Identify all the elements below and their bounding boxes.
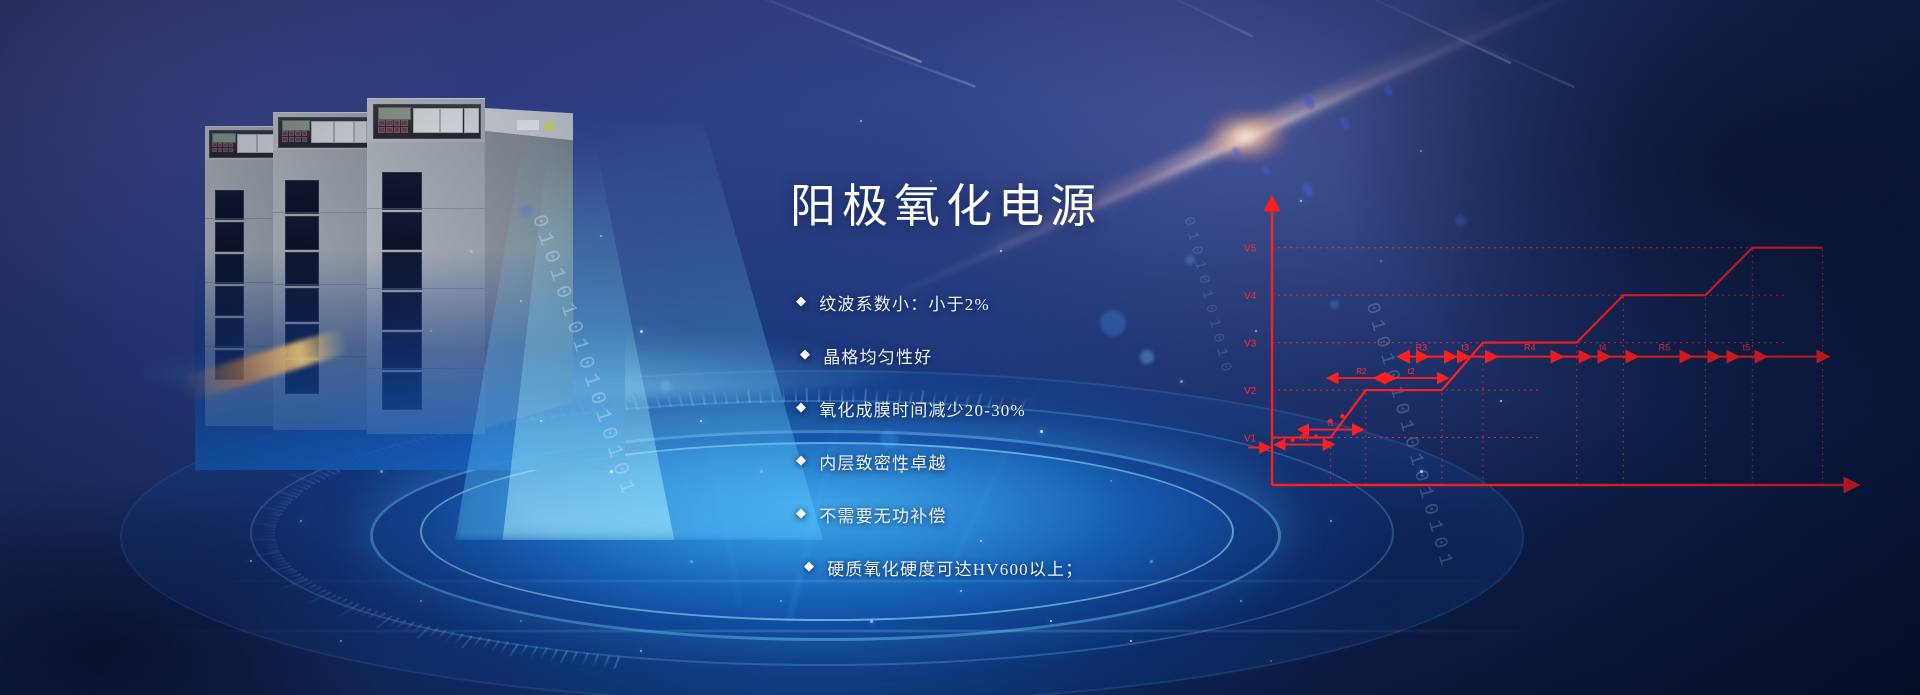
page-title: 阳极氧化电源 bbox=[790, 170, 1102, 236]
keypad-key[interactable] bbox=[282, 137, 288, 142]
bokeh-dot bbox=[1140, 350, 1154, 364]
chart-interval-label: t4 bbox=[1599, 343, 1607, 353]
particle bbox=[340, 640, 342, 642]
particle bbox=[1240, 600, 1242, 602]
cabinet-seam bbox=[273, 212, 373, 213]
bokeh-dot bbox=[520, 205, 532, 217]
chart-y-tick-label: V2 bbox=[1244, 386, 1257, 397]
keypad-key[interactable] bbox=[386, 127, 393, 133]
lens-flare-core bbox=[1203, 109, 1289, 163]
chart-y-tick-label: V3 bbox=[1244, 339, 1257, 350]
particle bbox=[250, 560, 252, 562]
keypad-key[interactable] bbox=[295, 137, 301, 142]
cabinet-breaker[interactable] bbox=[464, 108, 479, 133]
chart-interval-label: R3 bbox=[1416, 343, 1428, 353]
list-item-label: 氧化成膜时间减少20-30% bbox=[819, 396, 1026, 421]
cabinet-label-card bbox=[237, 134, 257, 153]
particle bbox=[640, 330, 643, 333]
keypad-key[interactable] bbox=[282, 131, 288, 136]
cabinet-vent bbox=[285, 180, 319, 214]
list-item: ◆ 晶格均匀性好 bbox=[800, 343, 1266, 368]
cabinet-seam bbox=[367, 288, 485, 289]
particle bbox=[640, 650, 642, 652]
cabinet-seam bbox=[367, 208, 485, 209]
cabinet-label-card bbox=[311, 121, 334, 143]
particle bbox=[930, 180, 932, 182]
particle bbox=[1270, 660, 1272, 662]
keypad-key[interactable] bbox=[295, 131, 301, 136]
particle bbox=[420, 600, 422, 602]
power-cabinet-right bbox=[367, 98, 485, 434]
cabinet-vent bbox=[285, 216, 319, 250]
chart-interval-label: R5 bbox=[1659, 343, 1671, 353]
particle bbox=[1420, 470, 1423, 473]
particle bbox=[1330, 520, 1332, 522]
keypad-key[interactable] bbox=[386, 120, 393, 126]
diamond-bullet-icon: ◆ bbox=[804, 555, 815, 576]
particle bbox=[860, 120, 862, 122]
particle bbox=[700, 420, 702, 422]
lens-flare bbox=[1245, 135, 1249, 139]
chart-y-tick-label: V5 bbox=[1244, 244, 1257, 255]
keypad-key[interactable] bbox=[218, 143, 223, 147]
particle bbox=[960, 590, 962, 592]
meteor-streak bbox=[834, 34, 976, 87]
keypad-key[interactable] bbox=[394, 120, 401, 126]
cabinet-display bbox=[378, 107, 411, 120]
keypad-key[interactable] bbox=[302, 131, 308, 136]
chart-data-line bbox=[1272, 248, 1823, 438]
particle bbox=[1110, 480, 1112, 482]
cabinet-vent bbox=[382, 292, 422, 330]
particle bbox=[870, 620, 873, 623]
bokeh-dot bbox=[1330, 300, 1339, 309]
cabinet-vent bbox=[382, 372, 422, 410]
cabinet-vent bbox=[285, 252, 319, 286]
cabinet-vent bbox=[285, 288, 319, 322]
chart-interval-label: t2 bbox=[1408, 367, 1415, 376]
chart-vertical-gridlines bbox=[1331, 248, 1823, 485]
voltage-staircase-chart: V1V2V3V4V5 R3t3R4t4R5t5 R1t1R2t2 bbox=[1240, 185, 1880, 505]
diamond-bullet-icon: ◆ bbox=[796, 502, 807, 523]
particle bbox=[540, 420, 542, 422]
keypad-key[interactable] bbox=[401, 127, 408, 133]
chart-point bbox=[1314, 434, 1318, 438]
keypad-key[interactable] bbox=[229, 148, 234, 152]
particle bbox=[610, 470, 613, 473]
cabinet-vent bbox=[215, 286, 244, 316]
keypad-key[interactable] bbox=[401, 120, 408, 126]
bokeh-dot bbox=[1185, 255, 1195, 265]
list-item: ◆ 不需要无功补偿 bbox=[796, 502, 1266, 527]
cabinet-vent bbox=[215, 318, 244, 348]
chart-point bbox=[1328, 419, 1332, 423]
keypad-key[interactable] bbox=[302, 137, 308, 142]
cabinet-vent bbox=[215, 254, 244, 284]
list-item: ◆ 纹波系数小：小于2% bbox=[796, 290, 1266, 315]
cabinet-vent bbox=[382, 212, 422, 250]
particle bbox=[520, 300, 522, 302]
podium-tick bbox=[539, 648, 548, 661]
cabinet-keypad bbox=[282, 131, 307, 142]
particle bbox=[1420, 150, 1422, 152]
bokeh-dot bbox=[1455, 215, 1466, 226]
list-item-label: 纹波系数小：小于2% bbox=[819, 290, 990, 315]
chart-interval-label: R4 bbox=[1524, 343, 1536, 353]
cabinet-vent bbox=[382, 172, 422, 210]
particle bbox=[1040, 430, 1043, 433]
keypad-key[interactable] bbox=[223, 148, 228, 152]
diamond-bullet-icon: ◆ bbox=[796, 290, 807, 311]
particle bbox=[980, 540, 982, 542]
particle bbox=[600, 235, 602, 237]
podium-tick bbox=[581, 653, 589, 667]
particle bbox=[520, 620, 522, 622]
list-item-label: 不需要无功补偿 bbox=[819, 502, 946, 527]
cabinet-display bbox=[282, 120, 310, 131]
keypad-key[interactable] bbox=[289, 131, 295, 136]
cabinet-label-card bbox=[413, 108, 440, 133]
chart-y-tick-labels: V1V2V3V4V5 bbox=[1244, 244, 1257, 445]
cabinet-vent bbox=[382, 252, 422, 290]
list-item-label: 晶格均匀性好 bbox=[823, 343, 932, 368]
chart-svg: V1V2V3V4V5 R3t3R4t4R5t5 R1t1R2t2 bbox=[1240, 185, 1880, 505]
bokeh-dot bbox=[1100, 310, 1126, 336]
chart-point bbox=[1290, 438, 1294, 442]
keypad-key[interactable] bbox=[378, 120, 385, 126]
chart-point bbox=[1302, 433, 1306, 437]
cabinet-vent bbox=[382, 332, 422, 370]
cabinet-vent bbox=[215, 190, 244, 220]
cabinet-keypad bbox=[378, 120, 408, 133]
keypad-key[interactable] bbox=[223, 143, 228, 147]
cabinet-label-card bbox=[257, 134, 274, 153]
keypad-key[interactable] bbox=[229, 143, 234, 147]
particle bbox=[1130, 640, 1132, 642]
podium-floor-line bbox=[120, 630, 1520, 632]
particle bbox=[1500, 400, 1502, 402]
cabinet-seam bbox=[273, 284, 373, 285]
particle bbox=[780, 600, 782, 602]
chart-interval-label: t5 bbox=[1743, 343, 1751, 353]
chart-interval-label: R2 bbox=[1356, 367, 1367, 376]
cabinet-label-card bbox=[440, 108, 463, 133]
particle bbox=[690, 560, 693, 563]
power-cabinet-middle bbox=[273, 112, 373, 430]
keypad-key[interactable] bbox=[378, 127, 385, 133]
list-item-label: 内层致密性卓越 bbox=[819, 449, 946, 474]
particle bbox=[380, 470, 383, 473]
podium-tick bbox=[592, 654, 600, 668]
bokeh-dot bbox=[660, 380, 672, 392]
chart-y-tick-label: V4 bbox=[1244, 291, 1257, 302]
particle bbox=[1255, 330, 1257, 332]
podium-tick bbox=[570, 652, 578, 665]
chart-lower-interval-bar: R1t1R2t2 bbox=[1248, 367, 1448, 447]
keypad-key[interactable] bbox=[218, 148, 223, 152]
list-item: ◆ 硬质氧化硬度可达HV600以上； bbox=[804, 555, 1266, 580]
particle bbox=[900, 470, 903, 473]
particle bbox=[1150, 560, 1153, 563]
cabinet-seam bbox=[367, 368, 485, 369]
podium-tick bbox=[549, 649, 558, 662]
bokeh-dot bbox=[880, 430, 898, 448]
podium-tick bbox=[602, 655, 609, 669]
list-item: ◆ 内层致密性卓越 bbox=[796, 449, 1266, 474]
particle bbox=[1050, 620, 1052, 622]
particle bbox=[470, 250, 473, 253]
chart-interval-labels: R3t3R4t4R5t5 bbox=[1416, 343, 1751, 353]
particle bbox=[1180, 380, 1183, 383]
diamond-bullet-icon: ◆ bbox=[800, 343, 811, 364]
cabinet-breaker[interactable] bbox=[354, 121, 367, 143]
particle bbox=[430, 330, 432, 332]
keypad-key[interactable] bbox=[289, 137, 295, 142]
chart-interval-label: t3 bbox=[1462, 343, 1470, 353]
cabinet-label-card bbox=[334, 121, 354, 143]
particle bbox=[845, 520, 847, 522]
chart-point bbox=[1340, 414, 1344, 418]
particle bbox=[1000, 250, 1002, 252]
diamond-bullet-icon: ◆ bbox=[796, 396, 807, 417]
keypad-key[interactable] bbox=[212, 148, 217, 152]
cabinet-vent bbox=[215, 222, 244, 252]
particle bbox=[760, 470, 763, 473]
particle bbox=[1380, 260, 1382, 262]
list-item-label: 硬质氧化硬度可达HV600以上； bbox=[827, 555, 1083, 580]
list-item: ◆ 氧化成膜时间减少20-30% bbox=[796, 396, 1266, 421]
particle bbox=[1300, 200, 1302, 202]
diamond-bullet-icon: ◆ bbox=[796, 449, 807, 470]
particle bbox=[300, 520, 302, 522]
banner-stage: 0101010101010101 0101010101010101 010101… bbox=[0, 0, 1920, 695]
feature-list: ◆ 纹波系数小：小于2% ◆ 晶格均匀性好 ◆ 氧化成膜时间减少20-30% ◆… bbox=[796, 290, 1266, 608]
keypad-key[interactable] bbox=[212, 143, 217, 147]
chart-y-tick-label: V1 bbox=[1244, 434, 1257, 445]
cabinet-keypad bbox=[212, 143, 233, 152]
cabinet-display bbox=[212, 133, 236, 143]
keypad-key[interactable] bbox=[394, 127, 401, 133]
